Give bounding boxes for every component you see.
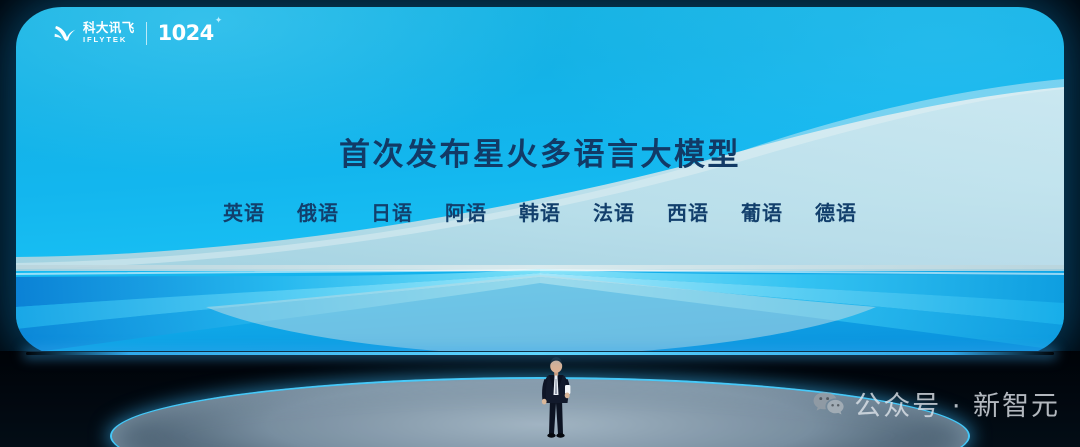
language-item: 葡语 <box>741 197 783 226</box>
sparkle-icon: ✦ <box>215 16 222 26</box>
iflytek-english-name: IFLYTEK <box>83 36 135 44</box>
watermark-text: 公众号 · 新智元 <box>854 384 1060 423</box>
iflytek-mark-icon <box>54 24 78 43</box>
language-item: 阿语 <box>445 197 487 226</box>
screen-light-sweep-graphic <box>16 7 1064 355</box>
language-item: 西语 <box>667 197 709 226</box>
watermark: 公众号 · 新智元 <box>813 384 1060 423</box>
logo-bar: 科大讯飞 IFLYTEK 1024 ✦ <box>54 21 214 45</box>
language-item: 韩语 <box>519 197 561 226</box>
event-logo-text: 1024 <box>158 21 214 45</box>
stage-scene: 科大讯飞 IFLYTEK 1024 ✦ 首次发布星火多语言大模型 英语 俄语 日… <box>0 0 1080 447</box>
language-item: 日语 <box>371 197 413 226</box>
event-1024-logo: 1024 ✦ <box>158 21 214 45</box>
screen-underglow-strip <box>26 352 1054 355</box>
presenter-on-stage <box>536 355 576 439</box>
logo-divider <box>146 22 147 45</box>
language-list: 英语 俄语 日语 阿语 韩语 法语 西语 葡语 德语 <box>16 197 1064 226</box>
screen-top-glow <box>16 7 1064 355</box>
iflytek-chinese-name: 科大讯飞 <box>83 22 135 35</box>
language-item: 英语 <box>223 197 265 226</box>
language-item: 法语 <box>593 197 635 226</box>
slide-title: 首次发布星火多语言大模型 <box>16 129 1064 174</box>
iflytek-wordmark: 科大讯飞 IFLYTEK <box>83 22 135 44</box>
iflytek-logo: 科大讯飞 IFLYTEK <box>54 22 135 44</box>
language-item: 俄语 <box>297 197 339 226</box>
led-presentation-screen: 科大讯飞 IFLYTEK 1024 ✦ 首次发布星火多语言大模型 英语 俄语 日… <box>16 7 1064 355</box>
wechat-icon <box>813 391 844 417</box>
language-item: 德语 <box>815 197 857 226</box>
